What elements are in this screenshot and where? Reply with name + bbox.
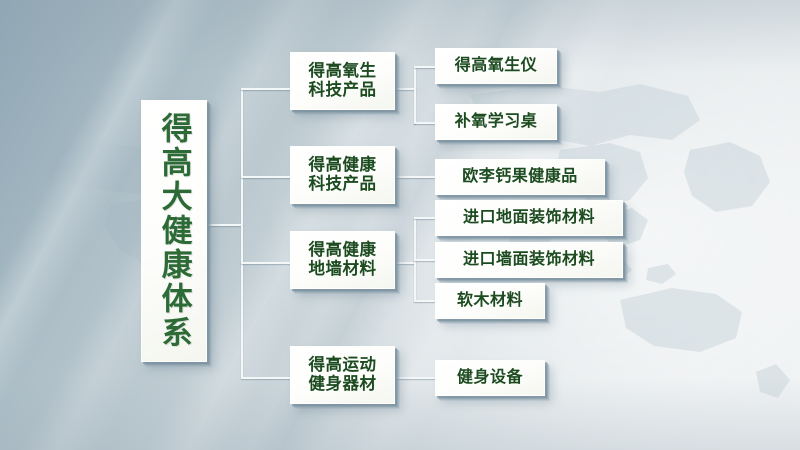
branch-node-4-label-line-2: 健身器材 <box>309 375 377 394</box>
branch-node-4-label-line-1: 得高运动 <box>309 356 377 375</box>
connector-branch-1-spine <box>414 66 416 124</box>
leaf-node-2-1[interactable]: 欧李钙果健康品 <box>435 159 605 195</box>
leaf-node-3-3-label: 软木材料 <box>457 292 523 310</box>
background-vignette <box>0 0 800 450</box>
connector-trunk-to-branch-1 <box>241 88 291 90</box>
connector-branch-1-child-1 <box>414 66 437 68</box>
leaf-node-1-2-label: 补氧学习桌 <box>455 113 538 131</box>
connector-branch-2-stub <box>392 176 437 178</box>
branch-node-2-label-line-1: 得高健康 <box>309 156 377 175</box>
leaf-node-4-1[interactable]: 健身设备 <box>435 360 545 396</box>
branch-node-4[interactable]: 得高运动 健身器材 <box>290 346 395 404</box>
connector-branch-1-stub <box>392 88 416 90</box>
branch-node-3-label-line-2: 地墙材料 <box>309 260 377 279</box>
connector-branch-3-child-3 <box>414 300 437 302</box>
connector-main-trunk <box>241 88 243 378</box>
leaf-node-3-1-label: 进口地面装饰材料 <box>463 209 595 227</box>
branch-node-1-label-line-1: 得高氧生 <box>309 62 377 81</box>
leaf-node-3-1[interactable]: 进口地面装饰材料 <box>435 200 623 236</box>
connector-branch-3-child-2 <box>414 259 437 261</box>
branch-node-3-label-line-1: 得高健康 <box>309 241 377 260</box>
background-light-streaks <box>0 0 800 450</box>
leaf-node-4-1-label: 健身设备 <box>457 369 523 387</box>
branch-node-1[interactable]: 得高氧生 科技产品 <box>290 52 395 110</box>
branch-node-2[interactable]: 得高健康 科技产品 <box>290 146 395 204</box>
connector-root-stub <box>205 224 243 226</box>
connector-trunk-to-branch-3 <box>241 262 291 264</box>
connector-trunk-to-branch-2 <box>241 176 291 178</box>
connector-branch-3-stub <box>392 262 416 264</box>
leaf-node-1-1-label: 得高氧生仪 <box>455 57 538 75</box>
connector-branch-3-child-1 <box>414 217 437 219</box>
leaf-node-3-2[interactable]: 进口墙面装饰材料 <box>435 242 623 278</box>
branch-node-2-label-line-2: 科技产品 <box>309 175 377 194</box>
branch-node-1-label-line-2: 科技产品 <box>309 81 377 100</box>
leaf-node-3-3[interactable]: 软木材料 <box>435 283 545 319</box>
leaf-node-2-1-label: 欧李钙果健康品 <box>462 168 578 186</box>
root-node[interactable]: 得高大健康体系 <box>141 100 207 362</box>
connector-branch-4-stub <box>392 377 437 379</box>
leaf-node-3-2-label: 进口墙面装饰材料 <box>463 251 595 269</box>
diagram-canvas: 得高大健康体系 得高氧生 科技产品 得高健康 科技产品 得高健康 地墙材料 得高… <box>0 0 800 450</box>
leaf-node-1-1[interactable]: 得高氧生仪 <box>435 48 557 84</box>
leaf-node-1-2[interactable]: 补氧学习桌 <box>435 104 557 140</box>
connector-trunk-to-branch-4 <box>241 377 291 379</box>
connector-branch-1-child-2 <box>414 122 437 124</box>
branch-node-3[interactable]: 得高健康 地墙材料 <box>290 231 395 289</box>
root-node-label: 得高大健康体系 <box>156 112 191 350</box>
world-map-background <box>0 0 800 450</box>
